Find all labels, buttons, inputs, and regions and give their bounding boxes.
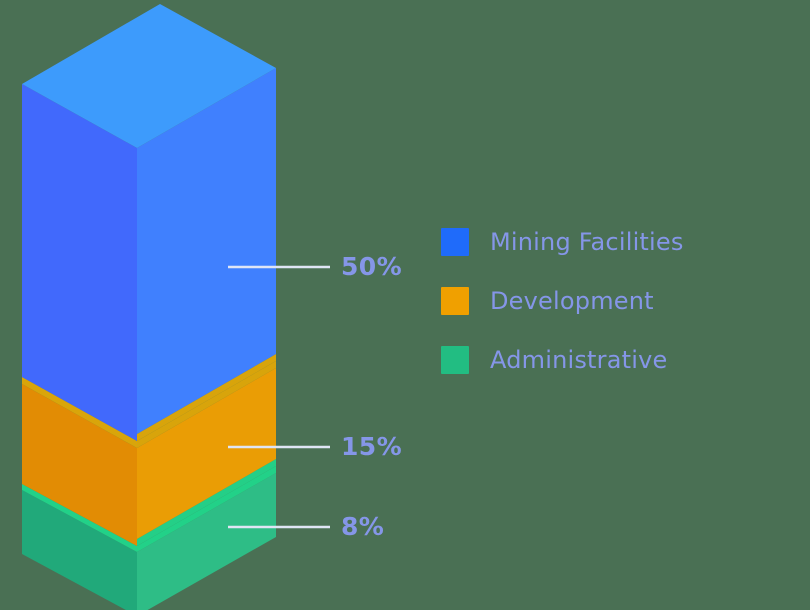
callout-label-8: 8% — [341, 512, 384, 541]
legend-label-mining-facilities: Mining Facilities — [490, 228, 684, 256]
callout-label-50: 50% — [341, 252, 402, 281]
legend-swatch-icon-administrative — [441, 346, 469, 374]
legend-item-administrative[interactable]: Administrative — [441, 346, 684, 374]
legend-swatch-icon-mining-facilities — [441, 228, 469, 256]
legend-swatch-icon-development — [441, 287, 469, 315]
chart-canvas: 50% 15% 8% Mining Facilities Development… — [0, 0, 810, 610]
legend-label-administrative: Administrative — [490, 346, 668, 374]
legend-item-development[interactable]: Development — [441, 287, 684, 315]
stacked-3d-bar-graphic — [0, 0, 810, 610]
chart-legend: Mining Facilities Development Administra… — [441, 228, 684, 374]
legend-item-mining-facilities[interactable]: Mining Facilities — [441, 228, 684, 256]
bar-segment-mining-facilities[interactable] — [22, 4, 276, 441]
legend-label-development: Development — [490, 287, 654, 315]
callout-label-15: 15% — [341, 432, 402, 461]
